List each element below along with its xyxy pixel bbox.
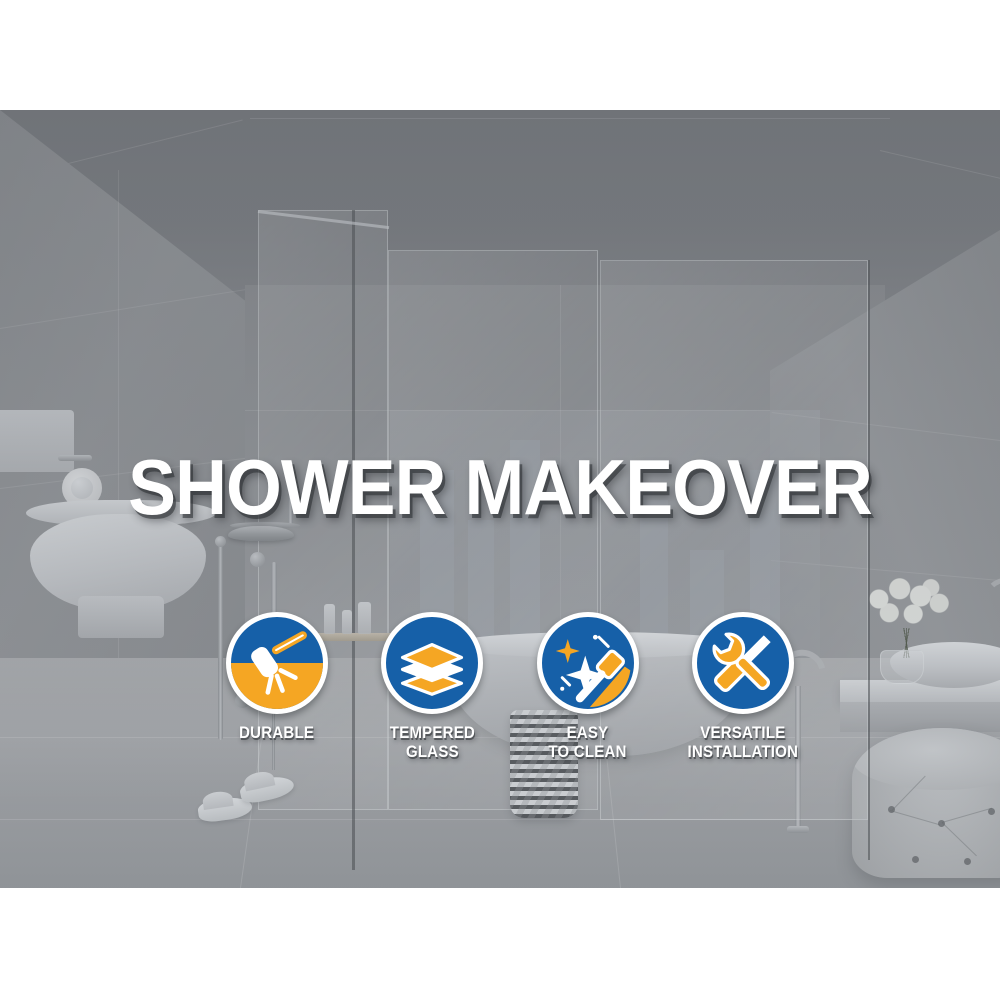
feature-versatile-installation: VERSATILE INSTALLATION <box>676 612 810 761</box>
flower-vase <box>880 650 924 684</box>
glass-mullion <box>868 260 870 860</box>
squeegee-sparkle-icon <box>542 617 634 709</box>
shower-head-joint <box>250 552 265 567</box>
tempered-glass-badge <box>381 612 483 714</box>
easy-to-clean-badge <box>537 612 639 714</box>
grab-bar-mount <box>215 536 226 547</box>
page-title: SHOWER MAKEOVER <box>40 447 960 527</box>
ceiling-seam <box>250 118 890 119</box>
feature-tempered-glass: TEMPERED GLASS <box>365 612 499 761</box>
tub-faucet-base <box>787 826 809 833</box>
flower-bouquet <box>856 572 960 632</box>
feature-label: TEMPERED GLASS <box>390 723 475 761</box>
product-banner: SHOWER MAKEOVER DURABLE <box>0 0 1000 1000</box>
feature-badge-row: DURABLE TEMPERED GLASS <box>210 612 810 792</box>
feature-durable: DURABLE <box>210 612 344 742</box>
ottoman-seat-top <box>852 728 1000 790</box>
shower-head-spray-icon <box>231 617 323 709</box>
feature-easy-to-clean: EASY TO CLEAN <box>521 612 655 761</box>
tufted-ottoman <box>852 728 1000 878</box>
feature-label: VERSATILE INSTALLATION <box>688 723 799 761</box>
durable-badge <box>226 612 328 714</box>
feature-label: EASY TO CLEAN <box>548 723 626 761</box>
feature-label: DURABLE <box>240 723 315 742</box>
versatile-installation-badge <box>692 612 794 714</box>
stacked-glass-layers-icon <box>386 617 478 709</box>
toilet-base <box>78 596 164 638</box>
screwdriver-wrench-icon <box>697 617 789 709</box>
